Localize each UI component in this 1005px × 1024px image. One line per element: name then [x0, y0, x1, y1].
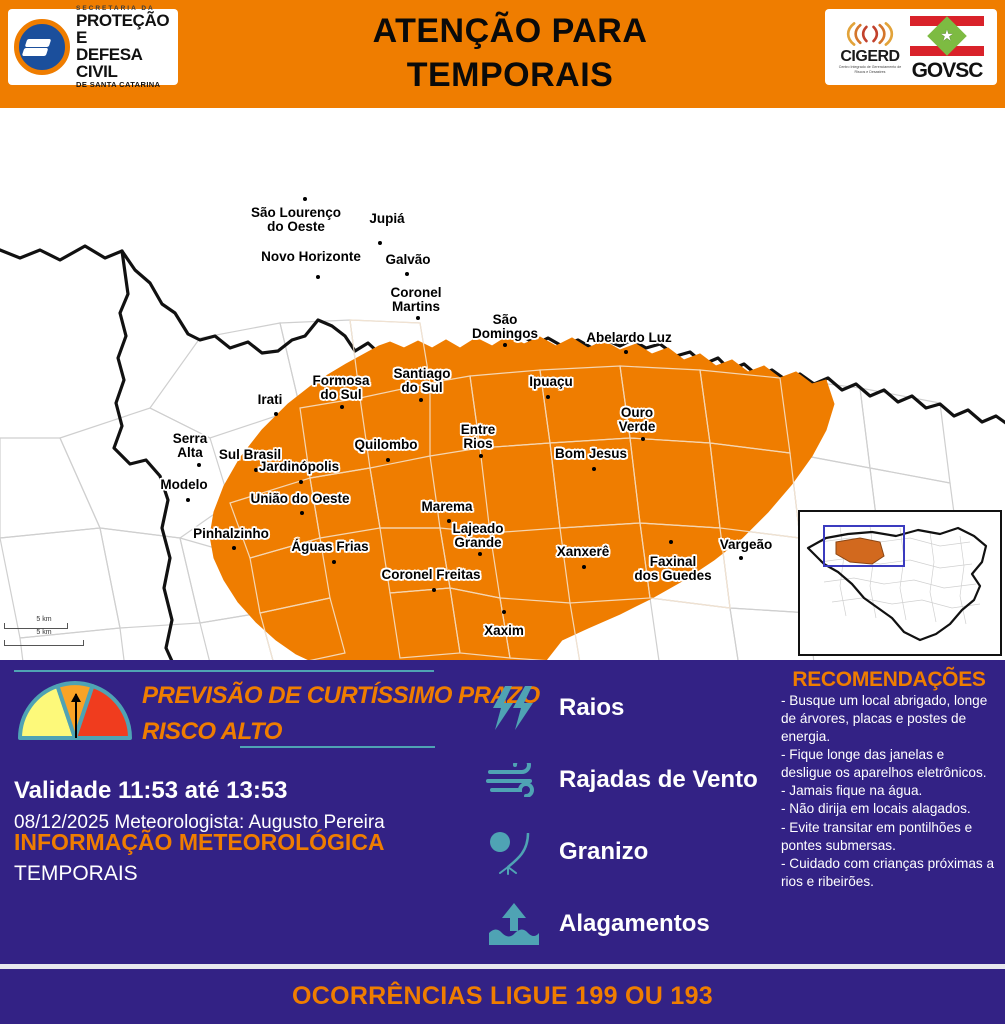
header-bar: SECRETARIA DA PROTEÇÃO E DEFESA CIVIL DE… — [0, 0, 1005, 108]
city-marker-dot — [197, 463, 201, 467]
hazard-item: Raios — [485, 672, 785, 744]
lightning-icon — [485, 683, 543, 733]
logo-estado-line: DE SANTA CATARINA — [76, 81, 172, 89]
city-marker-dot — [739, 556, 743, 560]
hazard-list: RaiosRajadas de VentoGranizoAlagamentos — [485, 672, 785, 960]
risk-level-label: RISCO ALTO — [142, 718, 282, 746]
city-marker-dot — [669, 540, 673, 544]
map-scale-bar: 5 km 5 km — [4, 616, 84, 646]
city-marker-dot — [232, 546, 236, 550]
city-marker-dot — [186, 498, 190, 502]
city-marker-dot — [254, 468, 258, 472]
city-marker-dot — [502, 610, 506, 614]
scale-label-1: 5 km — [4, 616, 84, 623]
hazard-item: Alagamentos — [485, 888, 785, 960]
city-marker-dot — [274, 412, 278, 416]
recommendation-item: - Busque um local abrigado, longe de árv… — [781, 692, 997, 746]
logo-defesa-line: DEFESA CIVIL — [76, 46, 172, 80]
city-marker-dot — [378, 241, 382, 245]
city-marker-dot — [592, 467, 596, 471]
inset-locator-map[interactable] — [798, 510, 1002, 656]
sc-text: SC — [955, 59, 982, 82]
cigerd-logo: CIGERD Centro Integrado de Gerenciamento… — [838, 19, 902, 75]
hazard-label: Raios — [559, 694, 624, 722]
recommendation-item: - Não dirija em locais alagados. — [781, 800, 997, 818]
city-marker-dot — [641, 437, 645, 441]
city-marker-dot — [300, 511, 304, 515]
city-marker-dot — [478, 552, 482, 556]
inset-vector — [800, 512, 996, 650]
recommendation-item: - Cuidado com crianças próximas a rios e… — [781, 855, 997, 891]
title-line-2: TEMPORAIS — [260, 54, 760, 98]
hazard-item: Granizo — [485, 816, 785, 888]
flood-icon — [485, 899, 543, 949]
alert-map[interactable]: São Lourenço do OesteJupiáNovo Horizonte… — [0, 108, 1005, 660]
recommendation-item: - Fique longe das janelas e desligue os … — [781, 746, 997, 782]
city-marker-dot — [624, 350, 628, 354]
city-marker-dot — [582, 565, 586, 569]
alert-poster: SECRETARIA DA PROTEÇÃO E DEFESA CIVIL DE… — [0, 0, 1005, 1024]
city-marker-dot — [546, 395, 550, 399]
info-value: TEMPORAIS — [14, 862, 138, 886]
defesa-civil-logo: SECRETARIA DA PROTEÇÃO E DEFESA CIVIL DE… — [8, 9, 178, 85]
recommendation-item: - Evite transitar em pontilhões e pontes… — [781, 819, 997, 855]
city-marker-dot — [299, 480, 303, 484]
city-marker-dot — [503, 343, 507, 347]
hazard-label: Rajadas de Vento — [559, 766, 758, 794]
cigerd-subtitle: Centro Integrado de Gerenciamento de Ris… — [838, 65, 902, 75]
city-marker-dot — [386, 458, 390, 462]
city-marker-dot — [479, 454, 483, 458]
gov-text: GOV — [912, 59, 956, 82]
city-marker-dot — [332, 560, 336, 564]
hazard-item: Rajadas de Vento — [485, 744, 785, 816]
poster-title: ATENÇÃO PARA TEMPORAIS — [260, 10, 760, 97]
city-marker-dot — [340, 405, 344, 409]
partner-logos: CIGERD Centro Integrado de Gerenciamento… — [825, 9, 997, 85]
govsc-logo: ★ GOVSC — [910, 14, 984, 81]
forecast-label: PREVISÃO DE CURTÍSSIMO PRAZO — [142, 682, 540, 710]
recommendation-item: - Jamais fique na água. — [781, 782, 997, 800]
divider-risk — [240, 746, 435, 748]
city-marker-dot — [419, 398, 423, 402]
emergency-phone-text: OCORRÊNCIAS LIGUE 199 OU 193 — [292, 982, 713, 1011]
cigerd-wave-icon — [843, 19, 897, 49]
gauge-needle-icon — [75, 694, 77, 738]
footer-bar: OCORRÊNCIAS LIGUE 199 OU 193 — [0, 969, 1005, 1024]
hail-icon — [485, 827, 543, 877]
santa-catarina-flag-icon: ★ — [910, 14, 984, 58]
alert-area-polygon — [210, 336, 834, 660]
title-line-1: ATENÇÃO PARA — [260, 10, 760, 54]
defesa-civil-emblem-icon — [14, 19, 70, 75]
city-marker-dot — [447, 519, 451, 523]
scale-label-2: 5 km — [4, 629, 84, 636]
info-heading: INFORMAÇÃO METEOROLÓGICA — [14, 829, 385, 856]
risk-gauge — [16, 680, 134, 742]
wind-icon — [485, 755, 543, 805]
govsc-name: GOVSC — [912, 60, 983, 81]
city-marker-dot — [416, 316, 420, 320]
divider-top — [14, 670, 434, 672]
hazard-label: Granizo — [559, 838, 648, 866]
validity-text: Validade 11:53 até 13:53 — [14, 777, 288, 805]
city-marker-dot — [303, 197, 307, 201]
hazard-label: Alagamentos — [559, 910, 710, 938]
recommendations-heading: RECOMENDAÇÕES — [781, 668, 997, 692]
logo-protecao-line: PROTEÇÃO E — [76, 12, 172, 46]
cigerd-name: CIGERD — [840, 49, 899, 65]
recommendations-list: - Busque um local abrigado, longe de árv… — [781, 692, 997, 891]
city-marker-dot — [405, 272, 409, 276]
city-marker-dot — [316, 275, 320, 279]
city-marker-dot — [432, 588, 436, 592]
recommendations-block: RECOMENDAÇÕES - Busque um local abrigado… — [781, 668, 997, 891]
